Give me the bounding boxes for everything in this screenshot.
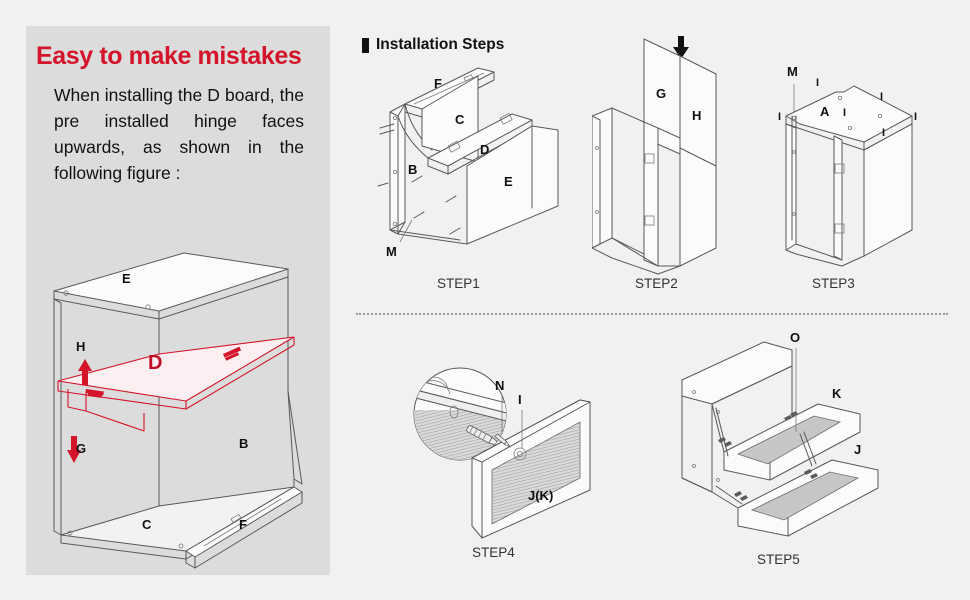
step4-figure: N I J(K) [412, 366, 672, 546]
step3-caption: STEP3 [812, 276, 855, 291]
mistake-description: When installing the D board, the pre ins… [54, 82, 304, 186]
step2-caption: STEP2 [635, 276, 678, 291]
label-h: H [76, 339, 85, 354]
label-e: E [122, 271, 131, 286]
label-o-step5: O [790, 330, 800, 345]
label-f-step1: F [434, 76, 442, 91]
svg-text:I: I [880, 91, 883, 103]
label-c: C [142, 517, 152, 532]
step4-caption: STEP4 [472, 545, 515, 560]
label-n-step4: N [495, 378, 504, 393]
label-b: B [239, 436, 248, 451]
label-e-step1: E [504, 174, 513, 189]
step1-figure: M F C B D E [372, 54, 602, 289]
label-f: F [239, 517, 247, 532]
step5-caption: STEP5 [757, 552, 800, 567]
label-k-step5: K [832, 386, 842, 401]
label-b-step1: B [408, 162, 417, 177]
label-i-step4: I [518, 392, 522, 407]
easy-to-make-mistakes-panel: Easy to make mistakes When installing th… [26, 26, 330, 575]
label-h-step2: H [692, 108, 701, 123]
label-c-step1: C [455, 112, 465, 127]
svg-text:I: I [882, 127, 885, 139]
svg-text:I: I [778, 111, 781, 123]
label-d-step1: D [480, 142, 489, 157]
svg-text:I: I [816, 77, 819, 89]
svg-text:I: I [914, 111, 917, 123]
label-m-step1: M [386, 244, 397, 259]
page-title: Easy to make mistakes [36, 42, 326, 71]
instruction-sheet: Easy to make mistakes When installing th… [0, 0, 970, 600]
installation-steps-header: Installation Steps [362, 36, 504, 54]
section-divider [356, 313, 948, 315]
svg-text:I: I [843, 107, 846, 119]
label-jk-step4: J(K) [528, 488, 553, 503]
label-g-step2: G [656, 86, 666, 101]
step1-caption: STEP1 [437, 276, 480, 291]
label-j-step5: J [854, 442, 861, 457]
label-a-step3: A [820, 104, 830, 119]
label-g: G [76, 441, 86, 456]
mistake-figure: D E H G B C F [26, 241, 330, 571]
installation-steps-title: Installation Steps [376, 36, 504, 54]
label-m-step3: M [787, 64, 798, 79]
square-bullet-icon [362, 38, 369, 53]
label-d-red: D [148, 352, 162, 374]
installation-steps-panel: Installation Steps [352, 26, 952, 575]
step2-figure: G H [592, 26, 772, 286]
step5-figure: O K J [672, 326, 922, 556]
step3-figure: M I I I I I I A [772, 54, 947, 289]
